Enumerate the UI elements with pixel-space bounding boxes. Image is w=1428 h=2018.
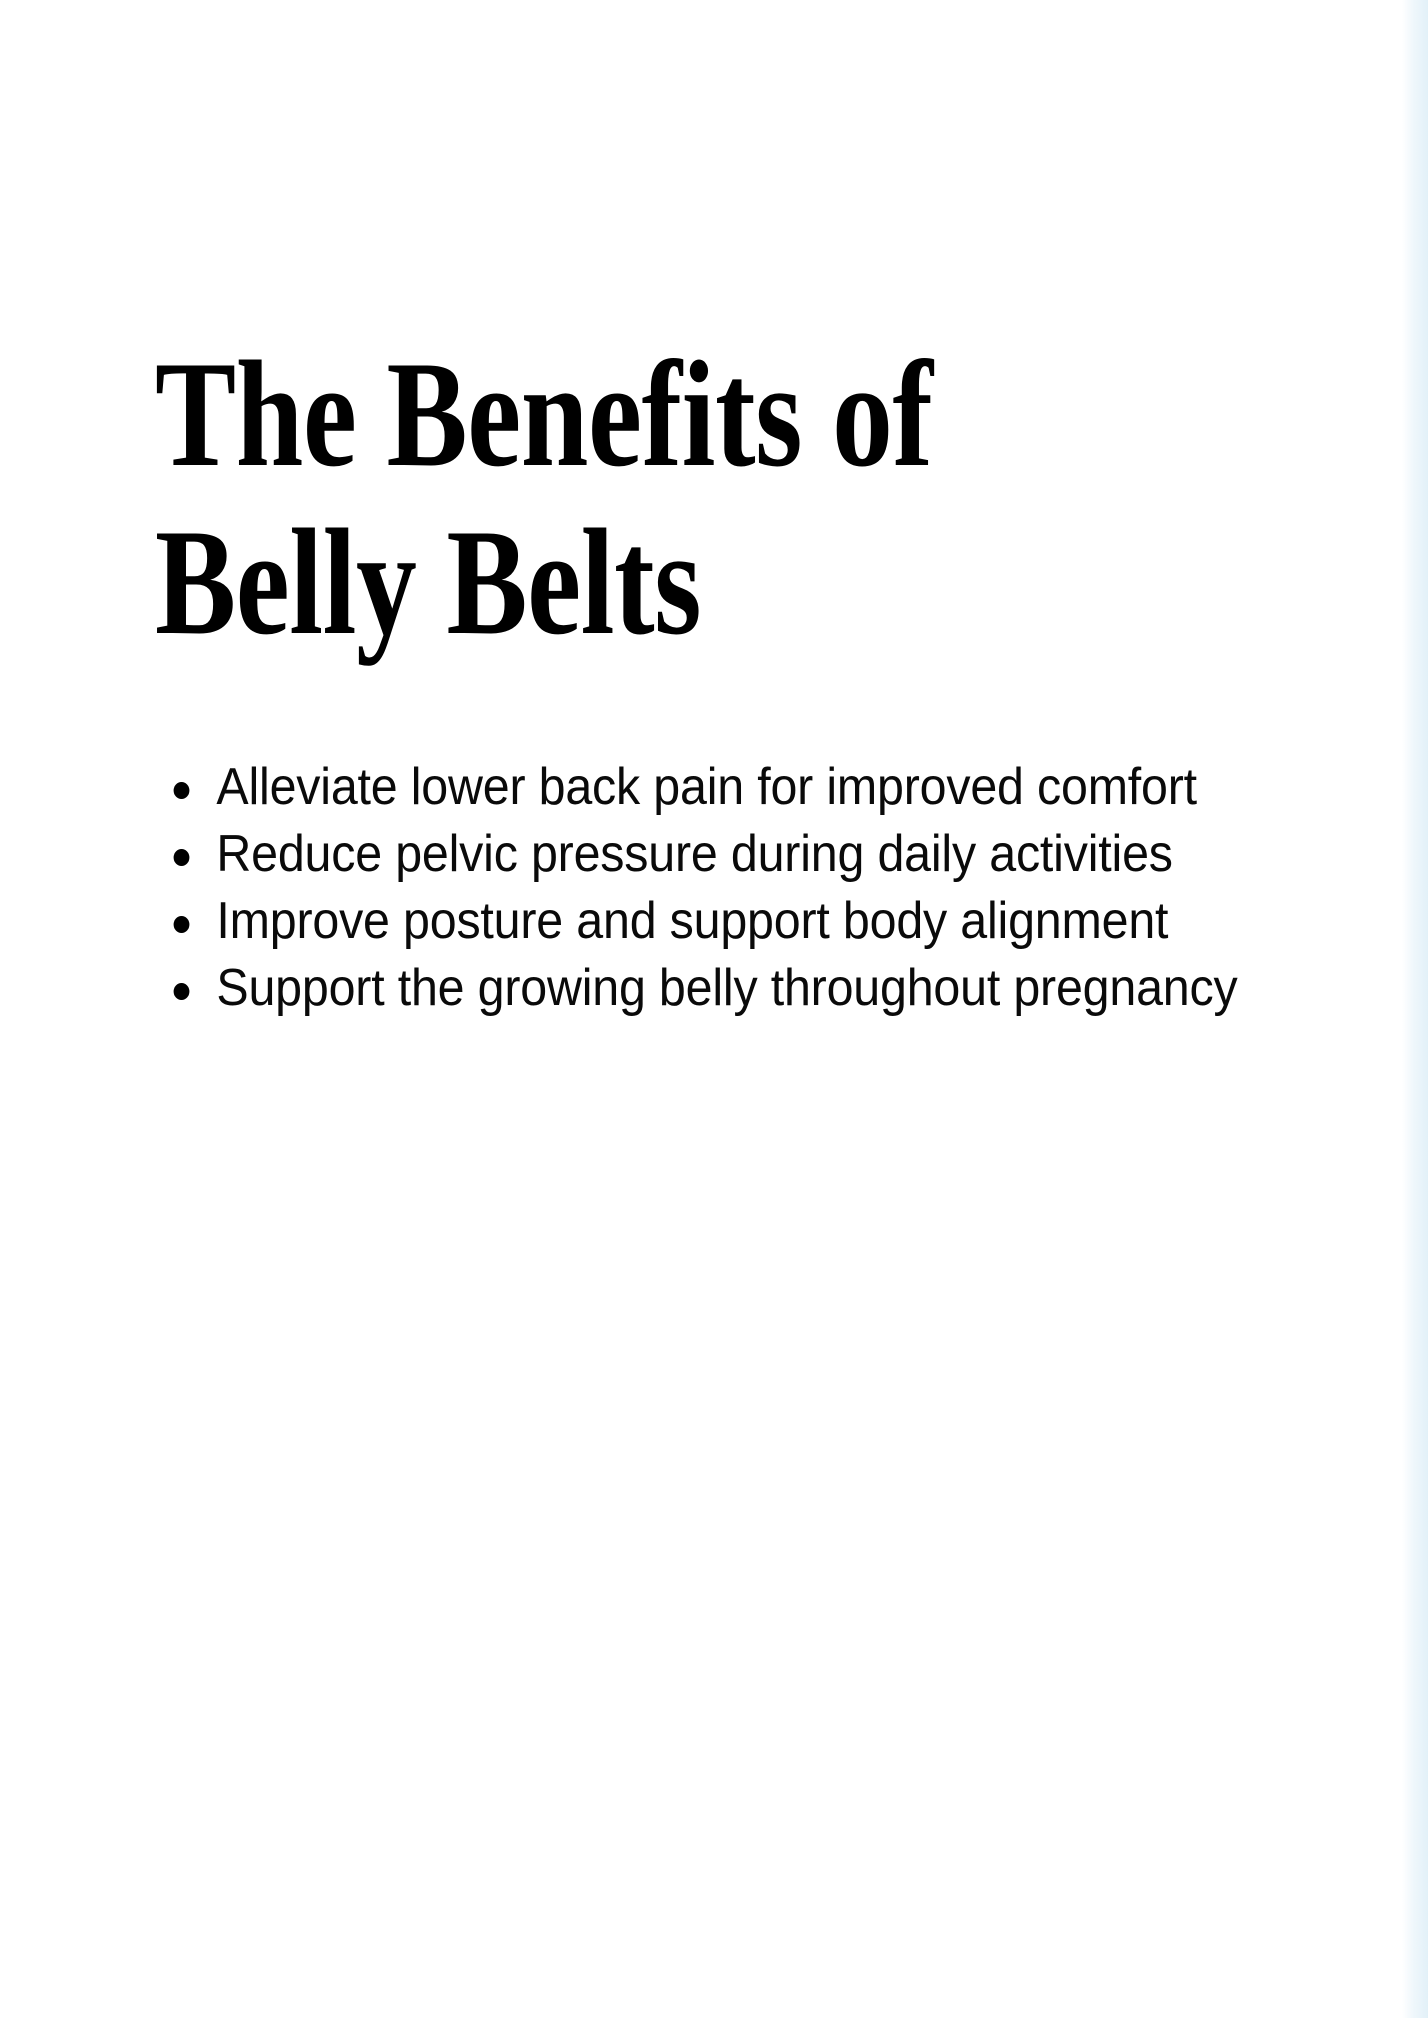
list-item-label: Alleviate lower back pain for improved c…: [216, 754, 1258, 821]
page-title: The Benefits of Belly Belts: [155, 330, 1259, 666]
bullet-icon: [174, 782, 190, 799]
content-column: The Benefits of Belly Belts Alleviate lo…: [155, 330, 1265, 1022]
list-item-label: Improve posture and support body alignme…: [216, 888, 1258, 955]
page-edge-tint: [1402, 0, 1428, 2018]
list-item: Support the growing belly throughout pre…: [155, 955, 1258, 1022]
bullet-icon: [174, 916, 190, 933]
list-item: Alleviate lower back pain for improved c…: [155, 754, 1258, 821]
bullet-icon: [174, 849, 190, 866]
bullet-icon: [174, 983, 190, 1000]
document-page: The Benefits of Belly Belts Alleviate lo…: [0, 0, 1428, 2018]
list-item: Reduce pelvic pressure during daily acti…: [155, 821, 1258, 888]
list-item-label: Support the growing belly throughout pre…: [216, 955, 1258, 1022]
benefits-list: Alleviate lower back pain for improved c…: [155, 754, 1265, 1022]
list-item-label: Reduce pelvic pressure during daily acti…: [216, 821, 1258, 888]
list-item: Improve posture and support body alignme…: [155, 888, 1258, 955]
